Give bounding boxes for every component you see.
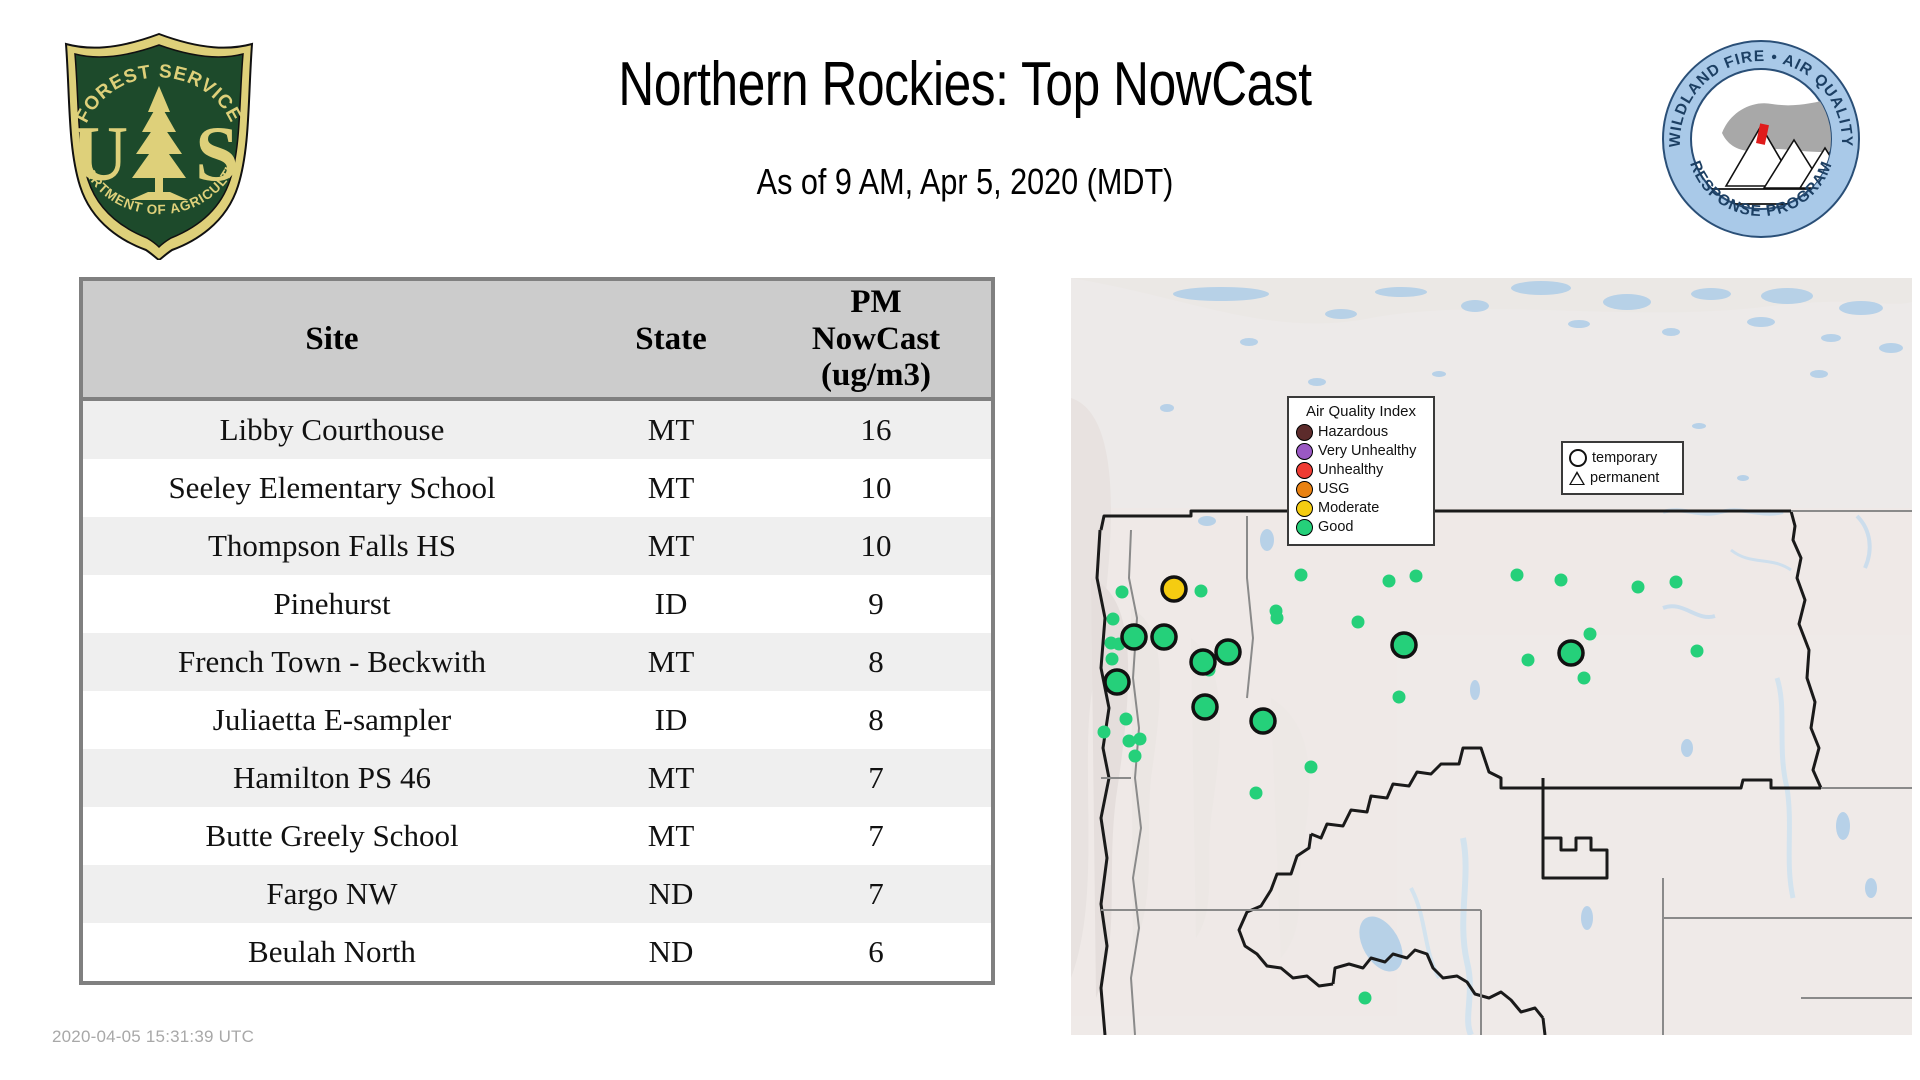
nowcast-table-container: Site State PM NowCast (ug/m3) Libby Cour… [79, 277, 991, 985]
column-header-site: Site [81, 279, 581, 399]
monitor-marker-small [1511, 569, 1524, 582]
monitor-marker-small [1584, 628, 1597, 641]
aqi-swatch-icon [1296, 519, 1313, 536]
pm-header-line-3: (ug/m3) [765, 357, 987, 394]
marker-type-legend: temporary permanent [1561, 441, 1684, 495]
aqi-swatch-icon [1296, 424, 1313, 441]
page-subtitle: As of 9 AM, Apr 5, 2020 (MDT) [400, 161, 1531, 203]
aqi-swatch-icon [1296, 443, 1313, 460]
monitor-marker-small [1555, 574, 1568, 587]
table-row: Juliaetta E-samplerID8 [81, 691, 993, 749]
table-row: Fargo NWND7 [81, 865, 993, 923]
monitor-marker-highlighted[interactable] [1392, 633, 1416, 657]
wfaqrp-logo: WILDLAND FIRE • AIR QUALITY RESPONSE PRO… [1660, 38, 1862, 240]
temporary-monitor-icon [1569, 449, 1587, 467]
cell-state: ND [581, 865, 761, 923]
usfs-letter-u: U [72, 110, 128, 197]
monitor-marker-small [1670, 576, 1683, 589]
monitor-marker-small [1120, 713, 1133, 726]
cell-site: Pinehurst [81, 575, 581, 633]
cell-pm: 7 [761, 807, 993, 865]
monitor-marker-small [1410, 570, 1423, 583]
aqi-legend: Air Quality Index HazardousVery Unhealth… [1287, 396, 1435, 546]
usfs-letter-s: S [195, 110, 238, 197]
monitor-marker-highlighted[interactable] [1122, 625, 1146, 649]
cell-pm: 6 [761, 923, 993, 983]
aqi-legend-item: Unhealthy [1296, 461, 1426, 480]
monitor-marker-small [1250, 787, 1263, 800]
monitor-marker-highlighted[interactable] [1559, 641, 1583, 665]
table-row: PinehurstID9 [81, 575, 993, 633]
cell-pm: 8 [761, 691, 993, 749]
table-row: Beulah NorthND6 [81, 923, 993, 983]
legend-row-permanent: permanent [1569, 468, 1676, 488]
table-body: Libby CourthouseMT16Seeley Elementary Sc… [81, 399, 993, 983]
monitor-marker-highlighted[interactable] [1105, 670, 1129, 694]
aqi-legend-label: Hazardous [1318, 425, 1388, 440]
cell-site: Juliaetta E-sampler [81, 691, 581, 749]
cell-state: ND [581, 923, 761, 983]
monitor-marker-small [1107, 613, 1120, 626]
aqi-legend-label: USG [1318, 482, 1349, 497]
cell-site: French Town - Beckwith [81, 633, 581, 691]
usfs-shield-icon: FOREST SERVICE DEPARTMENT OF AGRICULTURE… [52, 28, 266, 260]
aqi-legend-item: Moderate [1296, 499, 1426, 518]
table-row: Hamilton PS 46MT7 [81, 749, 993, 807]
column-header-state: State [581, 279, 761, 399]
column-header-pm-nowcast: PM NowCast (ug/m3) [761, 279, 993, 399]
table-row: French Town - BeckwithMT8 [81, 633, 993, 691]
table-row: Libby CourthouseMT16 [81, 399, 993, 459]
aqi-legend-label: Very Unhealthy [1318, 444, 1416, 459]
pm-header-line-1: PM [765, 284, 987, 321]
monitor-marker-small [1393, 691, 1406, 704]
cell-state: MT [581, 807, 761, 865]
monitor-marker-small [1578, 672, 1591, 685]
table-header-row: Site State PM NowCast (ug/m3) [81, 279, 993, 399]
cell-pm: 10 [761, 459, 993, 517]
aqi-legend-item: Hazardous [1296, 423, 1426, 442]
monitor-marker-small [1383, 575, 1396, 588]
usfs-logo: FOREST SERVICE DEPARTMENT OF AGRICULTURE… [52, 28, 266, 260]
pm-header-line-2: NowCast [765, 321, 987, 358]
monitor-marker-small [1129, 750, 1142, 763]
cell-state: ID [581, 691, 761, 749]
cell-pm: 7 [761, 749, 993, 807]
aqi-swatch-icon [1296, 481, 1313, 498]
generation-timestamp: 2020-04-05 15:31:39 UTC [52, 1027, 254, 1047]
cell-state: MT [581, 633, 761, 691]
aqi-legend-label: Good [1318, 520, 1353, 535]
monitor-marker-small [1522, 654, 1535, 667]
cell-pm: 8 [761, 633, 993, 691]
cell-site: Libby Courthouse [81, 399, 581, 459]
aqi-swatch-icon [1296, 462, 1313, 479]
page-title: Northern Rockies: Top NowCast [433, 52, 1497, 117]
aqi-legend-label: Unhealthy [1318, 463, 1383, 478]
monitor-marker-small [1359, 992, 1372, 1005]
cell-state: MT [581, 459, 761, 517]
aqi-legend-item: Good [1296, 518, 1426, 537]
aqi-legend-item: USG [1296, 480, 1426, 499]
aqi-legend-item: Very Unhealthy [1296, 442, 1426, 461]
nowcast-table: Site State PM NowCast (ug/m3) Libby Cour… [79, 277, 995, 985]
monitor-marker-highlighted[interactable] [1216, 640, 1240, 664]
monitor-marker-small [1195, 585, 1208, 598]
aqi-legend-label: Moderate [1318, 501, 1379, 516]
monitor-marker-small [1106, 653, 1119, 666]
monitor-marker-small [1305, 761, 1318, 774]
cell-state: MT [581, 399, 761, 459]
monitor-marker-highlighted[interactable] [1251, 709, 1275, 733]
monitor-marker-highlighted[interactable] [1191, 650, 1215, 674]
monitor-marker-small [1123, 735, 1136, 748]
monitor-marker-small [1098, 726, 1111, 739]
aqi-legend-title: Air Quality Index [1296, 403, 1426, 420]
legend-label-permanent: permanent [1590, 471, 1659, 486]
aqi-legend-rows: HazardousVery UnhealthyUnhealthyUSGModer… [1296, 423, 1426, 537]
monitor-marker-small [1691, 645, 1704, 658]
wildland-fire-air-quality-icon: WILDLAND FIRE • AIR QUALITY RESPONSE PRO… [1660, 38, 1862, 240]
cell-pm: 7 [761, 865, 993, 923]
permanent-monitor-icon [1569, 471, 1585, 485]
table-row: Butte Greely SchoolMT7 [81, 807, 993, 865]
monitor-marker-small [1116, 586, 1129, 599]
monitor-marker-small [1352, 616, 1365, 629]
cell-state: MT [581, 749, 761, 807]
cell-site: Seeley Elementary School [81, 459, 581, 517]
monitor-marker-small [1271, 612, 1284, 625]
cell-site: Beulah North [81, 923, 581, 983]
table-row: Seeley Elementary SchoolMT10 [81, 459, 993, 517]
cell-site: Fargo NW [81, 865, 581, 923]
legend-label-temporary: temporary [1592, 451, 1657, 466]
monitor-marker-highlighted[interactable] [1162, 577, 1186, 601]
map-canvas[interactable] [1071, 278, 1912, 1035]
monitor-marker-highlighted[interactable] [1152, 625, 1176, 649]
cell-state: ID [581, 575, 761, 633]
cell-site: Butte Greely School [81, 807, 581, 865]
aqi-swatch-icon [1296, 500, 1313, 517]
air-quality-map[interactable]: Air Quality Index HazardousVery Unhealth… [1071, 278, 1912, 1035]
legend-row-temporary: temporary [1569, 448, 1676, 468]
cell-site: Thompson Falls HS [81, 517, 581, 575]
cell-site: Hamilton PS 46 [81, 749, 581, 807]
cell-pm: 9 [761, 575, 993, 633]
cell-pm: 10 [761, 517, 993, 575]
monitor-marker-small [1295, 569, 1308, 582]
cell-pm: 16 [761, 399, 993, 459]
cell-state: MT [581, 517, 761, 575]
monitor-marker-highlighted[interactable] [1193, 695, 1217, 719]
table-row: Thompson Falls HSMT10 [81, 517, 993, 575]
monitor-marker-small [1632, 581, 1645, 594]
monitor-marker-small [1134, 733, 1147, 746]
title-block: Northern Rockies: Top NowCast As of 9 AM… [300, 52, 1630, 203]
